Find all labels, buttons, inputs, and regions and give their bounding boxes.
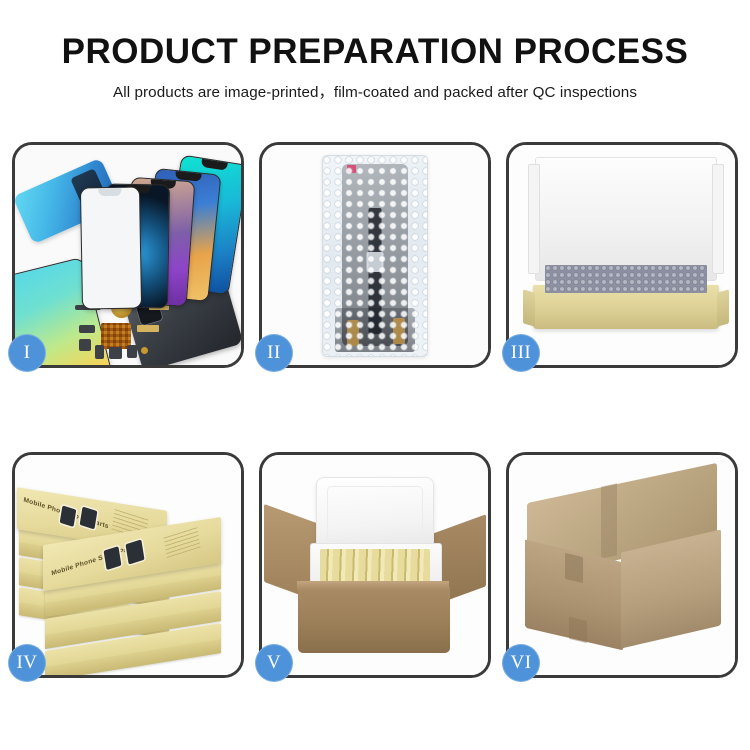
part-battery-icon: [127, 345, 137, 358]
part-square-icon: [79, 339, 91, 351]
box-label-text: Mobile Phone Spare Parts: [51, 544, 137, 578]
phone-parts-scene: [15, 145, 241, 365]
step-badge-1: I: [8, 334, 46, 372]
box-phone-graphic: [104, 546, 122, 570]
box-phone-graphic: [80, 506, 98, 529]
carton-tape-lower-icon: [569, 617, 587, 643]
notch-icon: [201, 159, 228, 171]
gray-foam-padding-icon: [545, 265, 707, 293]
part-ribbon-icon: [137, 325, 159, 332]
carton-top-seam-icon: [601, 483, 617, 558]
step-panel-6[interactable]: VI: [506, 452, 738, 678]
part-small-icon: [79, 325, 95, 333]
notch-icon: [98, 188, 121, 196]
carton-loading-scene: [262, 455, 488, 675]
inner-box-scene: [509, 145, 735, 365]
box-stack-group: Mobile Phone Spare Parts Mobile Phone Sp…: [15, 455, 241, 675]
step-image-1: [15, 145, 241, 365]
phone-white-icon: [80, 186, 142, 309]
step-panel-1[interactable]: I: [12, 142, 244, 368]
bubble-wrap-bag-icon: [322, 155, 428, 357]
page-subtitle: All products are image-printed，film-coat…: [0, 80, 750, 102]
product-preparation-page: PRODUCT PREPARATION PROCESS All products…: [0, 0, 750, 750]
white-foam-lid-icon: [535, 157, 717, 281]
page-title: PRODUCT PREPARATION PROCESS: [0, 34, 750, 71]
page-header: PRODUCT PREPARATION PROCESS All products…: [0, 34, 750, 102]
step-badge-4: IV: [8, 644, 46, 682]
step-panel-2[interactable]: II: [259, 142, 491, 368]
part-speaker-icon: [109, 347, 122, 359]
carton-front-panel-icon: [298, 587, 450, 653]
carton-tape-upper-icon: [565, 553, 583, 583]
step-badge-2: II: [255, 334, 293, 372]
step-badge-6: VI: [502, 644, 540, 682]
part-screw-icon: [141, 347, 148, 354]
step-image-3: [509, 145, 735, 365]
phone-fan-group: [75, 157, 241, 317]
box-spec-lines: [163, 526, 200, 558]
box-phone-graphic: [60, 505, 77, 527]
bubble-texture-overlay: [323, 156, 427, 356]
part-bracket-icon: [95, 345, 104, 359]
step-panel-5[interactable]: V: [259, 452, 491, 678]
step-panel-3[interactable]: III: [506, 142, 738, 368]
sealed-carton-scene: [509, 455, 735, 675]
step-image-4: Mobile Phone Spare Parts Mobile Phone Sp…: [15, 455, 241, 675]
process-steps-grid: I II: [12, 142, 738, 678]
step-image-2: [262, 145, 488, 365]
foam-lid-icon: [316, 477, 434, 553]
step-image-5: [262, 455, 488, 675]
bubble-wrap-scene: [262, 145, 488, 365]
step-image-6: [509, 455, 735, 675]
stacked-boxes-scene: Mobile Phone Spare Parts Mobile Phone Sp…: [15, 455, 241, 675]
step-badge-3: III: [502, 334, 540, 372]
step-panel-4[interactable]: Mobile Phone Spare Parts Mobile Phone Sp…: [12, 452, 244, 678]
box-phone-graphic: [125, 539, 144, 564]
step-badge-5: V: [255, 644, 293, 682]
